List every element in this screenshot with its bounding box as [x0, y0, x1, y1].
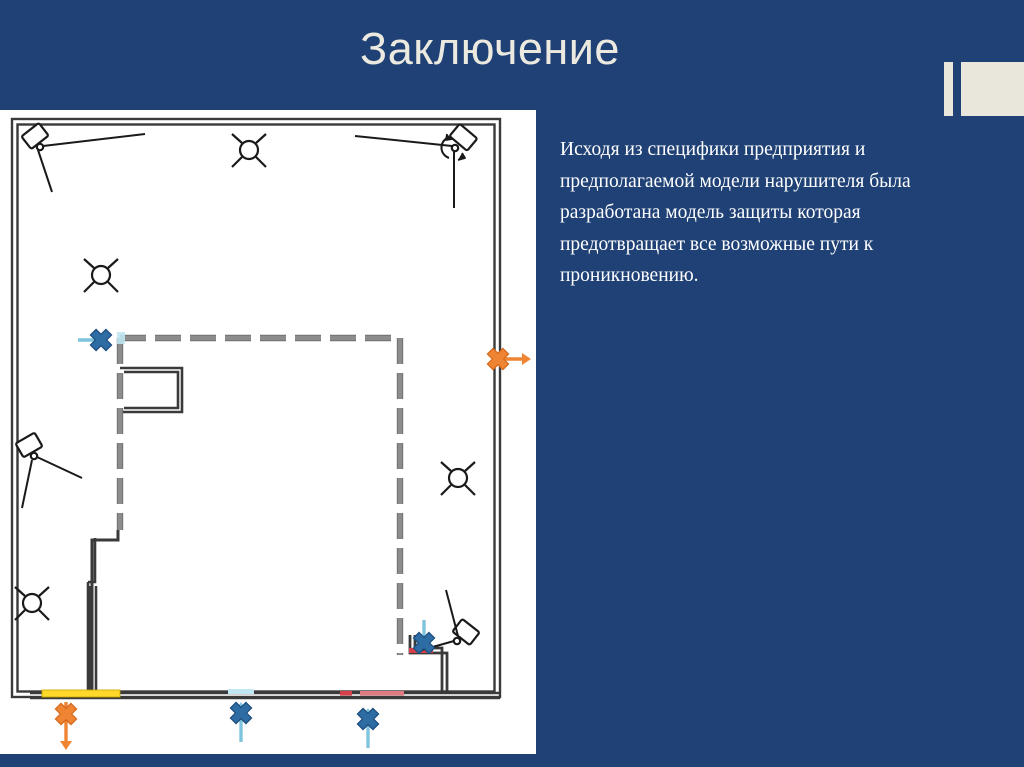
orange-breach-marker-right-wall	[482, 343, 531, 374]
red-wall-segment-b	[360, 691, 404, 696]
interior-room-hook	[120, 368, 182, 412]
highlighted-wall-segments	[42, 332, 433, 697]
sensor-perimeter-outline	[117, 335, 403, 655]
blue-breach-marker-bottom-2	[352, 703, 383, 748]
sensor-perimeter-loop	[120, 338, 400, 655]
motion-detector-icon-right-mid	[441, 462, 475, 495]
interior-walls	[30, 538, 500, 698]
page-title: Заключение	[0, 24, 980, 74]
cyan-wall-segment-b	[228, 689, 254, 694]
camera-icon-top-left	[21, 123, 145, 192]
camera-icon-mid-left	[15, 433, 82, 508]
outer-walls	[12, 119, 500, 697]
blue-breach-marker-left-wall	[78, 324, 117, 355]
body-paragraph: Исходя из специфики предприятия и предпо…	[560, 134, 990, 292]
blue-breach-marker-bottom-1	[225, 697, 256, 742]
ptz-camera-icon-top-right	[355, 124, 477, 208]
motion-detector-icon-lower-left	[15, 587, 49, 620]
slide-background: Заключение Исходя из специфики предприят…	[0, 0, 1024, 767]
motion-detector-icon-upper-left	[84, 259, 118, 292]
red-wall-segment-a	[340, 691, 352, 696]
yellow-wall-segment	[42, 690, 120, 697]
floor-plan-drawing	[0, 110, 536, 754]
orange-breach-marker-bottom-left	[50, 698, 81, 750]
floor-plan-panel	[0, 110, 536, 754]
motion-detector-icon-top-center	[232, 134, 266, 167]
cyan-wall-segment-a	[117, 332, 125, 344]
